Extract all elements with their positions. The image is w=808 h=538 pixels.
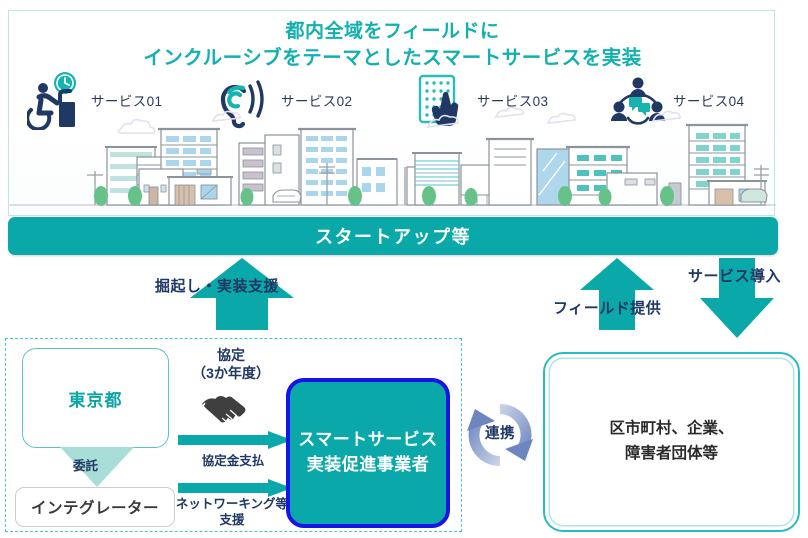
startup-banner-label: スタートアップ等 [315,223,471,249]
page-title: 都内全域をフィールドに インクルーシブをテーマとしたスマートサービスを実装 [9,19,776,71]
tokyo-metropolis-label: 東京都 [69,386,123,411]
partner-organizations-box: 区市町村、企業、 障害者団体等 [543,352,800,532]
operator-line-1: スマートサービス [298,430,438,449]
excavation-support-label: 掘起し・実装支援 [155,275,279,296]
partner-line-1: 区市町村、企業、 [609,420,733,437]
service-rollout-label: サービス導入 [688,265,781,286]
agreement-payment-label: 協定金支払 [176,450,290,469]
partner-organizations-label: 区市町村、企業、 障害者団体等 [609,417,733,467]
networking-support-label-line-1: ネットワーキング等 [168,497,296,513]
headline-line-2: インクルーシブをテーマとしたスマートサービスを実装 [9,45,776,71]
smart-service-operator-label: スマートサービス 実装促進事業者 [298,428,438,477]
field-provision-label: フィールド提供 [553,297,661,318]
delegation-label: 委託 [73,455,98,474]
diagram-canvas: 都内全域をフィールドに インクルーシブをテーマとしたスマートサービスを実装 [0,0,808,538]
networking-support-label-line-2: 支援 [168,513,296,529]
integrator-box: インテグレーター [15,487,175,527]
integrator-label: インテグレーター [31,496,159,518]
headline-line-1: 都内全域をフィールドに [9,19,776,45]
agreement-title: 協定 （3か年度） [176,346,286,382]
smart-service-operator-box: スマートサービス 実装促進事業者 [286,378,450,528]
startup-banner: スタートアップ等 [8,217,778,255]
operator-line-2: 実装促進事業者 [307,455,430,474]
agreement-title-line-2: （3か年度） [176,364,286,382]
handshake-icon [197,390,263,426]
networking-support-label: ネットワーキング等 支援 [168,497,296,528]
top-vision-panel: 都内全域をフィールドに インクルーシブをテーマとしたスマートサービスを実装 [8,10,775,216]
cityscape-illustration [9,107,776,215]
collaboration-label: 連携 [457,422,543,443]
field-provision-arrow [580,258,654,330]
tokyo-metropolis-box: 東京都 [22,348,169,448]
agreement-title-line-1: 協定 [176,346,286,364]
partner-line-2: 障害者団体等 [625,445,718,462]
